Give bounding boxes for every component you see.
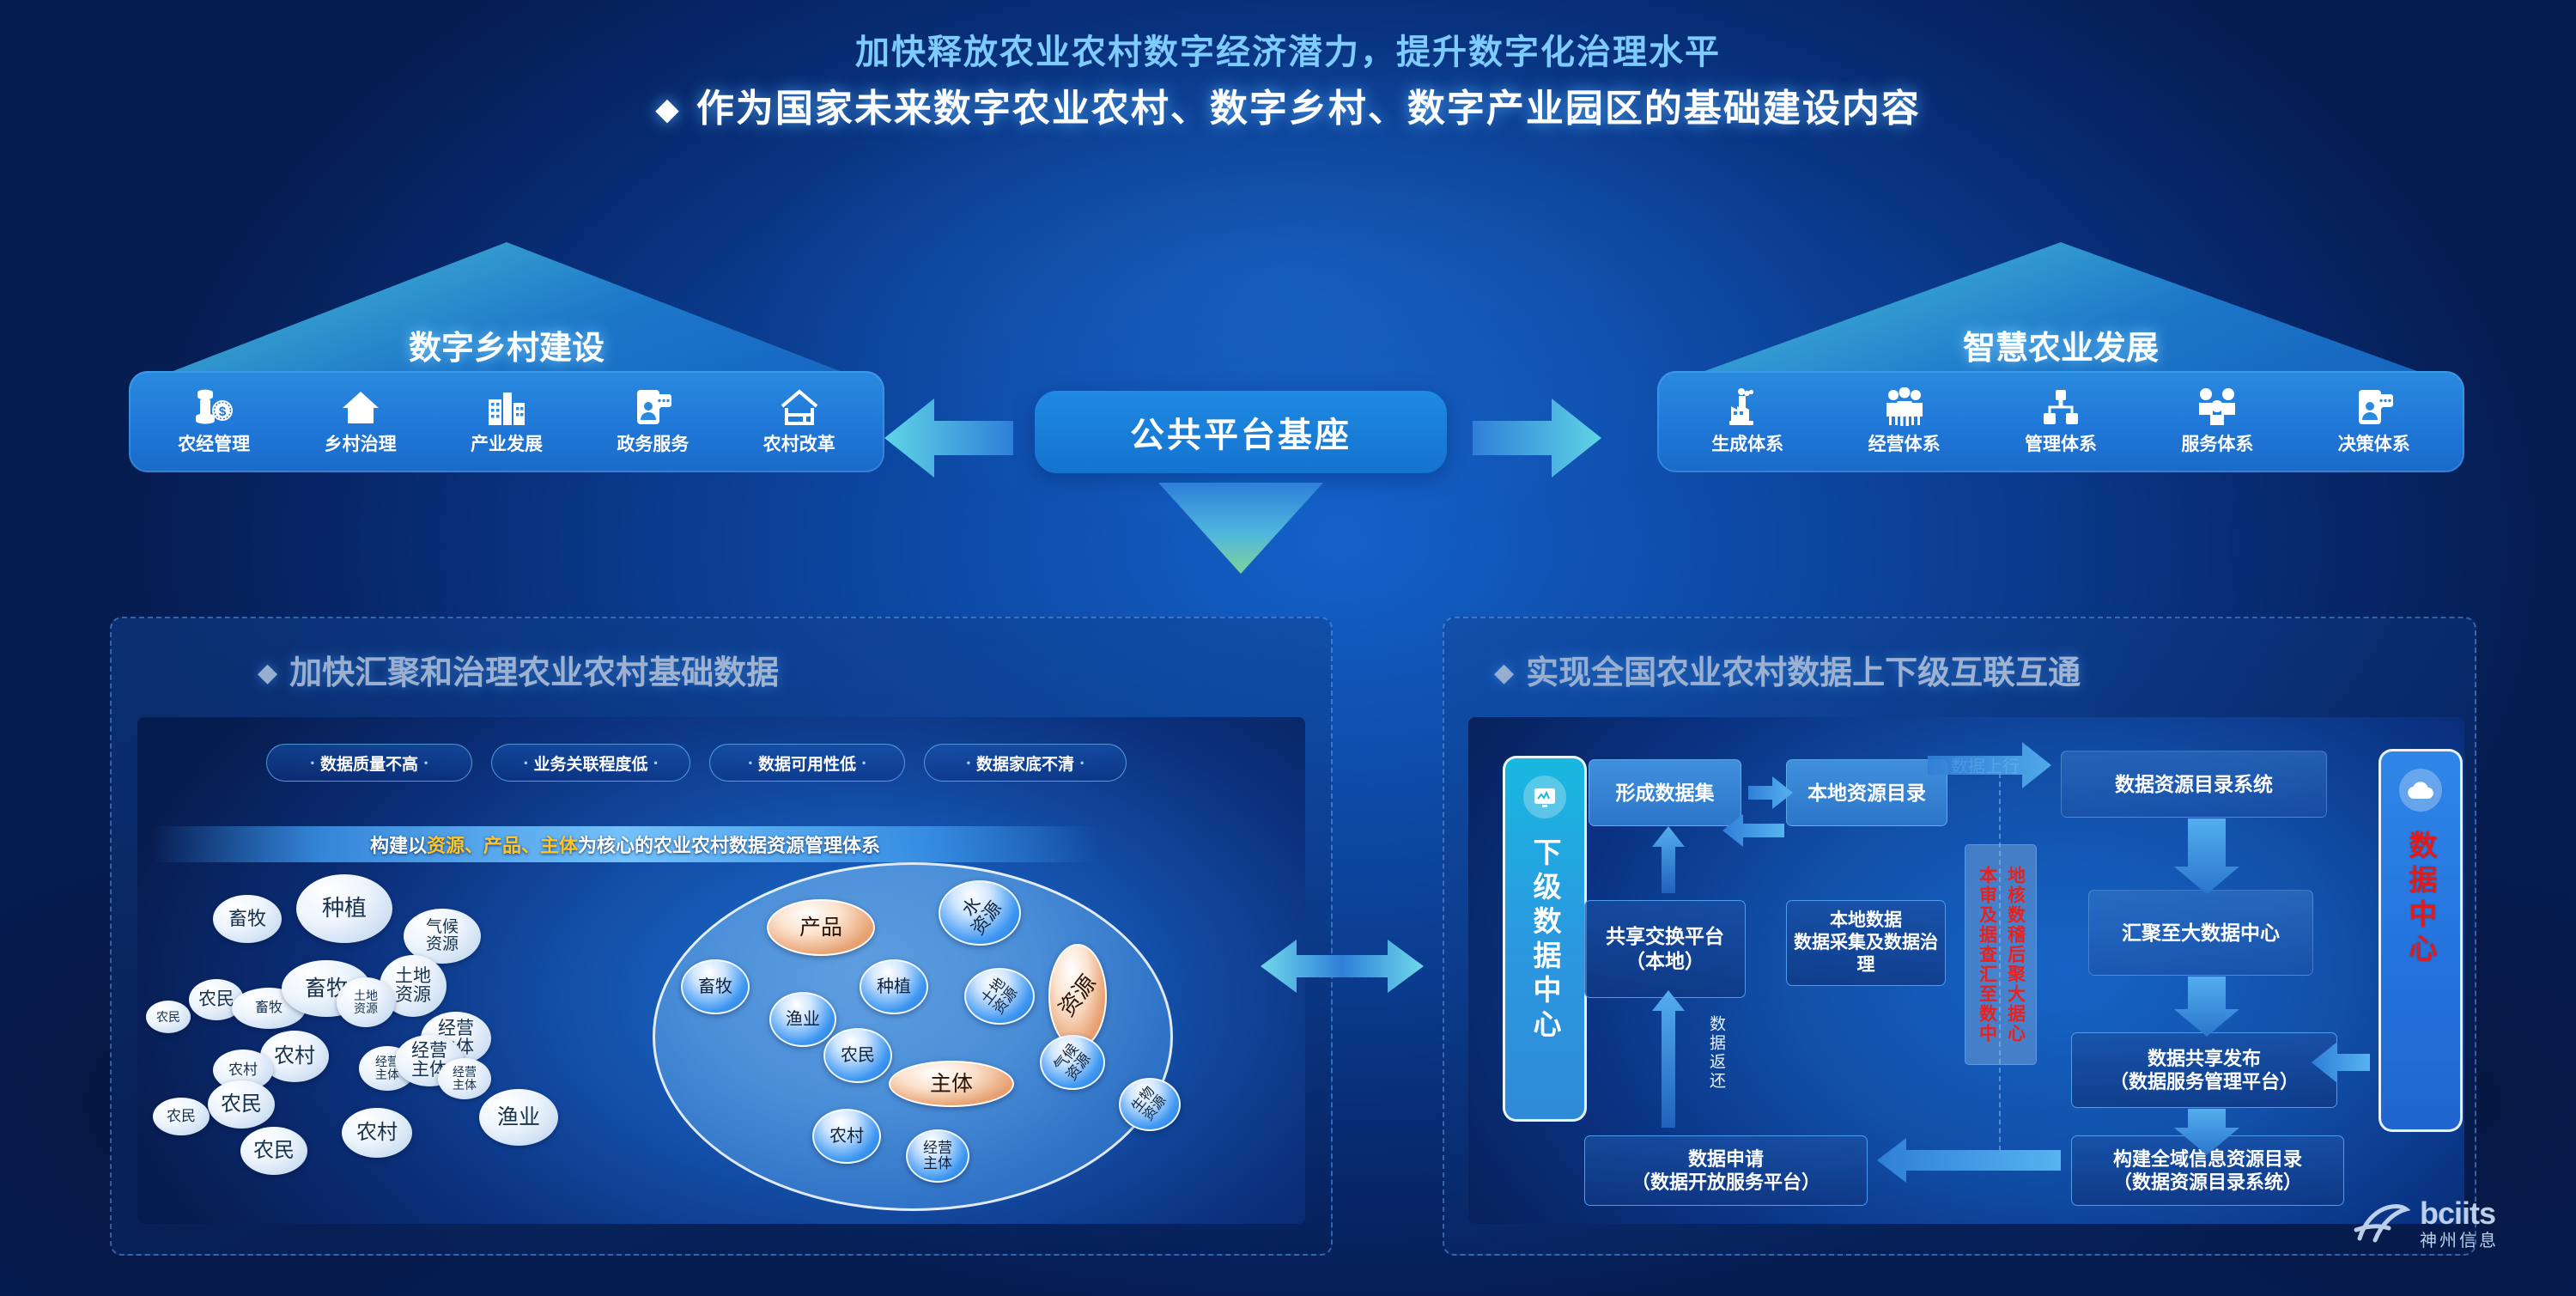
data-bubble: 经营 主体 xyxy=(438,1058,491,1099)
left-house-panel: 数字乡村建设 $ 农经管理 乡村治理 产业发展 政务服务 农村改革 xyxy=(129,242,884,483)
issue-pill-label: 数据质量不高 xyxy=(320,751,418,775)
service-people-icon xyxy=(2196,387,2238,427)
data-bubble: 农民 xyxy=(208,1080,275,1129)
arrow-right-icon xyxy=(1473,397,1601,479)
item-label: 农经管理 xyxy=(178,430,250,456)
bullet-dot-icon: • xyxy=(749,757,752,769)
data-bubble: 农民 xyxy=(153,1098,210,1135)
item-shengcheng-tixi[interactable]: 生成体系 xyxy=(1711,387,1783,456)
page-subtitle-text: 作为国家未来数字农业农村、数字乡村、数字产业园区的基础建设内容 xyxy=(696,88,1921,130)
item-nongcun-gaige[interactable]: 农村改革 xyxy=(763,387,835,456)
people-group-icon xyxy=(1882,387,1927,427)
right-house-items: 生成体系 经营体系 管理体系 服务体系 决策体系 xyxy=(1657,373,2464,471)
left-roof-title: 数字乡村建设 xyxy=(129,321,884,368)
item-label: 产业发展 xyxy=(471,430,543,456)
item-zhengwu-fuwu[interactable]: 政务服务 xyxy=(617,387,689,456)
core-statement-ribbon: 构建以资源、产品、主体为核心的农业农村数据资源管理体系 xyxy=(153,826,1097,862)
item-label: 管理体系 xyxy=(2025,430,2097,456)
item-chanye-fazhan[interactable]: 产业发展 xyxy=(471,387,543,456)
page-title: 加快释放农业农村数字经济潜力，提升数字化治理水平 xyxy=(0,24,2576,74)
bidirectional-arrow-icon xyxy=(1261,936,1424,996)
issue-pill-0[interactable]: •数据质量不高• xyxy=(266,744,472,782)
svg-text:$: $ xyxy=(219,405,227,419)
data-bubble: 种植 xyxy=(296,874,392,943)
entity-node: 经营 主体 xyxy=(906,1129,969,1183)
issue-pill-1[interactable]: •业务关联程度低• xyxy=(491,744,690,782)
item-label: 生成体系 xyxy=(1711,430,1783,456)
bullet-dot-icon: • xyxy=(424,757,428,769)
ribbon-highlight: 资源、产品、主体 xyxy=(427,835,578,856)
buildings-icon xyxy=(486,387,527,427)
ribbon-suffix: 为核心的农业农村数据资源管理体系 xyxy=(578,835,880,856)
entity-node: 畜牧 xyxy=(681,959,750,1014)
item-label: 决策体系 xyxy=(2338,430,2410,456)
right-house-panel: 智慧农业发展 生成体系 经营体系 管理体系 服务体系 决策体系 xyxy=(1657,242,2464,483)
bullet-dot-icon: • xyxy=(862,757,866,769)
house-outline-icon xyxy=(779,387,820,427)
issue-pill-label: 业务关联程度低 xyxy=(533,751,647,775)
item-guanli-tixi[interactable]: 管理体系 xyxy=(2025,387,2097,456)
entity-node: 气候 资源 xyxy=(1040,1035,1105,1090)
flow-arrows-layer xyxy=(1468,717,2464,1224)
bullet-dot-icon: • xyxy=(967,757,970,769)
page-subtitle: ◆作为国家未来数字农业农村、数字乡村、数字产业园区的基础建设内容 xyxy=(0,77,2576,132)
logo-cn: 神州信息 xyxy=(2420,1232,2499,1250)
money-stack-icon: $ xyxy=(192,387,235,427)
item-jingying-tixi[interactable]: 经营体系 xyxy=(1868,387,1941,456)
entity-node: 农民 xyxy=(823,1028,892,1083)
mobile-service-icon xyxy=(633,387,672,427)
organized-data-disc: 产品水 资源资源畜牧种植土地 资源渔业农民气候 资源生物 资源主体农村经营 主体 xyxy=(653,862,1173,1211)
bullet-dot-icon: • xyxy=(524,757,527,769)
core-statement-text: 构建以资源、产品、主体为核心的农业农村数据资源管理体系 xyxy=(370,831,880,858)
data-bubble: 农村 xyxy=(342,1108,412,1158)
platform-base-card[interactable]: 公共平台基座 xyxy=(1035,391,1447,473)
issue-pill-label: 数据可用性低 xyxy=(758,751,856,775)
core-entity-node: 产品 xyxy=(767,899,875,956)
bullet-dot-icon: • xyxy=(1080,757,1084,769)
left-house-items: $ 农经管理 乡村治理 产业发展 政务服务 农村改革 xyxy=(129,373,884,471)
data-bubble: 农民 xyxy=(146,1001,191,1033)
entity-node: 土地 资源 xyxy=(964,968,1035,1025)
item-juece-tixi[interactable]: 决策体系 xyxy=(2338,387,2410,456)
item-label: 农村改革 xyxy=(763,430,835,456)
issue-pill-2[interactable]: •数据可用性低• xyxy=(709,744,905,782)
right-roof-title: 智慧农业发展 xyxy=(1657,321,2464,368)
ribbon-prefix: 构建以 xyxy=(370,835,427,856)
item-label: 服务体系 xyxy=(2181,430,2253,456)
org-chart-icon xyxy=(2041,387,2081,427)
platform-base-label: 公共平台基座 xyxy=(1130,407,1352,457)
item-label: 乡村治理 xyxy=(325,430,397,456)
diamond-bullet-icon: ◆ xyxy=(655,91,681,127)
core-entity-node: 主体 xyxy=(889,1061,1014,1107)
mobile-decision-icon xyxy=(2354,387,2394,427)
data-bubble: 土地 资源 xyxy=(337,977,395,1027)
factory-icon xyxy=(1728,387,1767,427)
company-logo: bciits 神州信息 xyxy=(2353,1177,2550,1271)
logo-en: bciits xyxy=(2420,1198,2499,1229)
data-bubble: 农民 xyxy=(240,1127,307,1175)
arrow-left-icon xyxy=(884,397,1013,479)
core-entity-node: 资源 xyxy=(1048,944,1107,1049)
entity-node: 水 资源 xyxy=(939,880,1021,946)
home-icon xyxy=(341,387,380,427)
entity-node: 渔业 xyxy=(769,992,836,1047)
item-nongjing-guanli[interactable]: $ 农经管理 xyxy=(178,387,250,456)
bullet-dot-icon: • xyxy=(311,757,314,769)
data-bubble: 渔业 xyxy=(479,1089,558,1146)
item-label: 政务服务 xyxy=(617,430,689,456)
logo-text: bciits 神州信息 xyxy=(2420,1198,2499,1250)
entity-node: 农村 xyxy=(812,1109,881,1164)
arrow-down-icon xyxy=(1155,481,1327,575)
issue-pill-3[interactable]: •数据家底不清• xyxy=(924,744,1127,782)
messy-data-bubble-cloud: 畜牧种植气候 资源土地 资源农民农民畜牧畜牧土地 资源经营 主体农村农村经营 主… xyxy=(146,859,627,1220)
bciits-mark-icon xyxy=(2353,1197,2413,1250)
item-xiangcun-zhili[interactable]: 乡村治理 xyxy=(325,387,397,456)
issue-pill-label: 数据家底不清 xyxy=(976,751,1074,775)
data-bubble: 畜牧 xyxy=(213,895,282,943)
entity-node: 生物 资源 xyxy=(1119,1078,1181,1131)
bullet-dot-icon: • xyxy=(654,757,658,769)
item-label: 经营体系 xyxy=(1868,430,1941,456)
entity-node: 种植 xyxy=(860,959,928,1014)
item-fuwu-tixi[interactable]: 服务体系 xyxy=(2181,387,2253,456)
